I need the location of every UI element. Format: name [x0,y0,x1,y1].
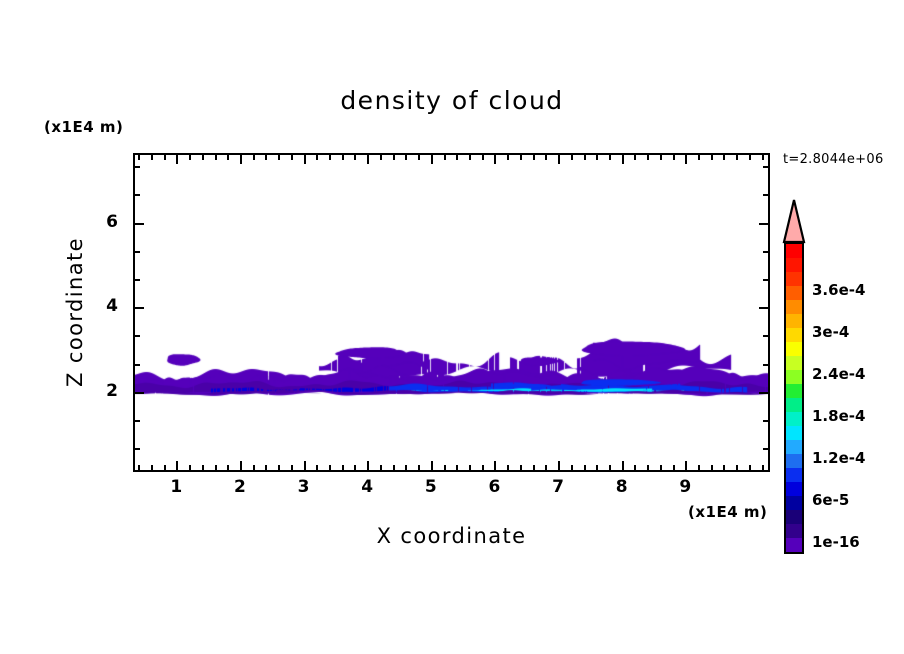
tick-x-top [762,155,764,160]
tick-x-bottom [227,465,229,470]
tick-x-top [482,155,484,160]
tick-x-bottom [215,465,217,470]
colorbar-swatch [786,300,802,314]
tick-x-bottom [291,465,293,470]
tick-x-bottom [265,465,267,470]
tick-y-left [135,448,140,450]
tick-x-top [456,155,458,160]
colorbar-swatch [786,440,802,454]
tick-y-left [135,420,140,422]
tick-y-right [763,335,768,337]
tick-x-top [571,155,573,160]
colorbar-swatch [786,412,802,426]
colorbar-tick-label: 1.2e-4 [812,449,865,467]
y-tick-label: 4 [88,296,118,316]
colorbar-tick-label: 3.6e-4 [812,281,865,299]
x-axis-title: X coordinate [133,524,770,548]
colorbar-swatch [786,342,802,356]
time-annotation: t=2.8044e+06 [783,152,884,167]
colorbar-swatch [786,328,802,342]
tick-y-right [763,420,768,422]
tick-y-left [135,223,144,225]
colorbar-swatch [786,258,802,272]
tick-x-top [431,155,433,164]
colorbar-swatch [786,384,802,398]
tick-y-right [763,251,768,253]
tick-x-top [647,155,649,160]
tick-y-right [759,307,768,309]
tick-x-top [584,155,586,160]
tick-x-top [469,155,471,160]
tick-x-top [622,155,624,164]
tick-x-bottom [342,465,344,470]
x-tick-label: 8 [607,477,637,497]
tick-x-top [367,155,369,164]
tick-x-bottom [723,465,725,470]
colorbar-tick-label: 2.4e-4 [812,365,865,383]
tick-y-left [135,307,144,309]
y-tick-label: 2 [88,381,118,401]
tick-x-top [393,155,395,160]
tick-x-bottom [456,465,458,470]
tick-x-bottom [405,465,407,470]
tick-x-top [151,155,153,160]
tick-y-left [135,251,140,253]
colorbar-swatch [786,356,802,370]
tick-x-bottom [698,465,700,470]
tick-x-bottom [316,465,318,470]
tick-x-bottom [596,465,598,470]
tick-x-top [520,155,522,160]
tick-x-bottom [558,461,560,470]
y-axis-title: Z coordinate [63,232,87,392]
tick-x-top [723,155,725,160]
tick-x-top [189,155,191,160]
colorbar-swatch [786,538,802,552]
x-tick-label: 9 [670,477,700,497]
tick-x-bottom [545,465,547,470]
x-tick-label: 7 [543,477,573,497]
colorbar-max-arrow-icon [782,198,806,244]
tick-x-bottom [189,465,191,470]
tick-x-top [202,155,204,160]
tick-x-bottom [367,461,369,470]
tick-x-bottom [380,465,382,470]
tick-x-top [494,155,496,164]
tick-x-bottom [736,465,738,470]
tick-x-top [558,155,560,164]
tick-x-bottom [634,465,636,470]
cloud-density-field [135,155,768,470]
tick-x-bottom [685,461,687,470]
tick-y-left [135,194,140,196]
tick-x-top [634,155,636,160]
tick-x-bottom [584,465,586,470]
colorbar-swatch [786,244,802,258]
tick-x-bottom [660,465,662,470]
tick-y-right [759,223,768,225]
tick-x-top [380,155,382,160]
tick-y-left [135,364,140,366]
tick-x-bottom [673,465,675,470]
tick-x-top [444,155,446,160]
y-axis-units-label: (x1E4 m) [44,118,123,136]
tick-y-right [759,392,768,394]
tick-x-bottom [507,465,509,470]
tick-x-top [164,155,166,160]
tick-x-bottom [253,465,255,470]
tick-x-top [533,155,535,160]
colorbar-tick-label: 1e-16 [812,533,860,551]
tick-x-top [673,155,675,160]
tick-x-top [609,155,611,160]
tick-x-top [596,155,598,160]
tick-x-top [138,155,140,160]
colorbar-tick-label: 3e-4 [812,323,849,341]
tick-x-top [291,155,293,160]
x-tick-label: 5 [416,477,446,497]
colorbar-swatch [786,496,802,510]
colorbar-swatch [786,524,802,538]
tick-y-left [135,279,140,281]
x-tick-label: 3 [289,477,319,497]
tick-y-right [763,364,768,366]
colorbar-swatch [786,314,802,328]
tick-x-top [215,155,217,160]
tick-x-top [304,155,306,164]
tick-x-top [227,155,229,160]
tick-x-top [660,155,662,160]
colorbar-swatch [786,454,802,468]
tick-x-bottom [164,465,166,470]
tick-x-top [545,155,547,160]
tick-x-bottom [571,465,573,470]
tick-x-bottom [622,461,624,470]
tick-x-top [354,155,356,160]
colorbar-tick-label: 1.8e-4 [812,407,865,425]
colorbar-swatch [786,482,802,496]
colorbar-swatch [786,272,802,286]
x-tick-label: 4 [352,477,382,497]
tick-y-left [135,166,140,168]
tick-x-bottom [609,465,611,470]
plot-area [133,153,770,472]
colorbar-swatch [786,426,802,440]
tick-x-bottom [520,465,522,470]
tick-x-top [698,155,700,160]
x-tick-label: 1 [161,477,191,497]
tick-x-top [316,155,318,160]
colorbar-swatch [786,286,802,300]
x-axis-units-label: (x1E4 m) [688,503,767,521]
tick-x-bottom [278,465,280,470]
tick-x-top [749,155,751,160]
x-tick-label: 2 [225,477,255,497]
tick-x-top [176,155,178,164]
tick-y-right [763,448,768,450]
tick-x-bottom [151,465,153,470]
tick-x-bottom [444,465,446,470]
tick-x-top [342,155,344,160]
colorbar-tick-label: 6e-5 [812,491,849,509]
tick-x-bottom [749,465,751,470]
colorbar-swatch [786,398,802,412]
colorbar-swatch [786,468,802,482]
colorbar-swatches [784,242,804,554]
tick-x-top [253,155,255,160]
tick-x-bottom [304,461,306,470]
x-tick-label: 6 [479,477,509,497]
tick-x-top [507,155,509,160]
tick-x-bottom [418,465,420,470]
tick-x-top [418,155,420,160]
tick-x-top [265,155,267,160]
y-tick-label: 6 [88,212,118,232]
tick-x-bottom [711,465,713,470]
tick-y-right [763,279,768,281]
tick-x-top [736,155,738,160]
tick-x-top [240,155,242,164]
tick-x-bottom [202,465,204,470]
tick-x-bottom [762,465,764,470]
tick-x-bottom [176,461,178,470]
colorbar-swatch [786,510,802,524]
tick-x-bottom [494,461,496,470]
tick-y-left [135,335,140,337]
figure-canvas: density of cloud (x1E4 m) t=2.8044e+06 X… [0,0,904,654]
tick-x-bottom [138,465,140,470]
tick-y-right [763,166,768,168]
tick-x-top [278,155,280,160]
tick-x-bottom [431,461,433,470]
tick-y-right [763,194,768,196]
page-title: density of cloud [0,86,904,115]
tick-x-bottom [647,465,649,470]
tick-x-bottom [329,465,331,470]
tick-x-bottom [393,465,395,470]
tick-x-top [329,155,331,160]
tick-x-bottom [354,465,356,470]
tick-x-top [711,155,713,160]
tick-x-top [405,155,407,160]
tick-x-bottom [482,465,484,470]
colorbar-swatch [786,370,802,384]
tick-x-bottom [240,461,242,470]
tick-x-bottom [469,465,471,470]
tick-x-top [685,155,687,164]
tick-y-left [135,392,144,394]
tick-x-bottom [533,465,535,470]
